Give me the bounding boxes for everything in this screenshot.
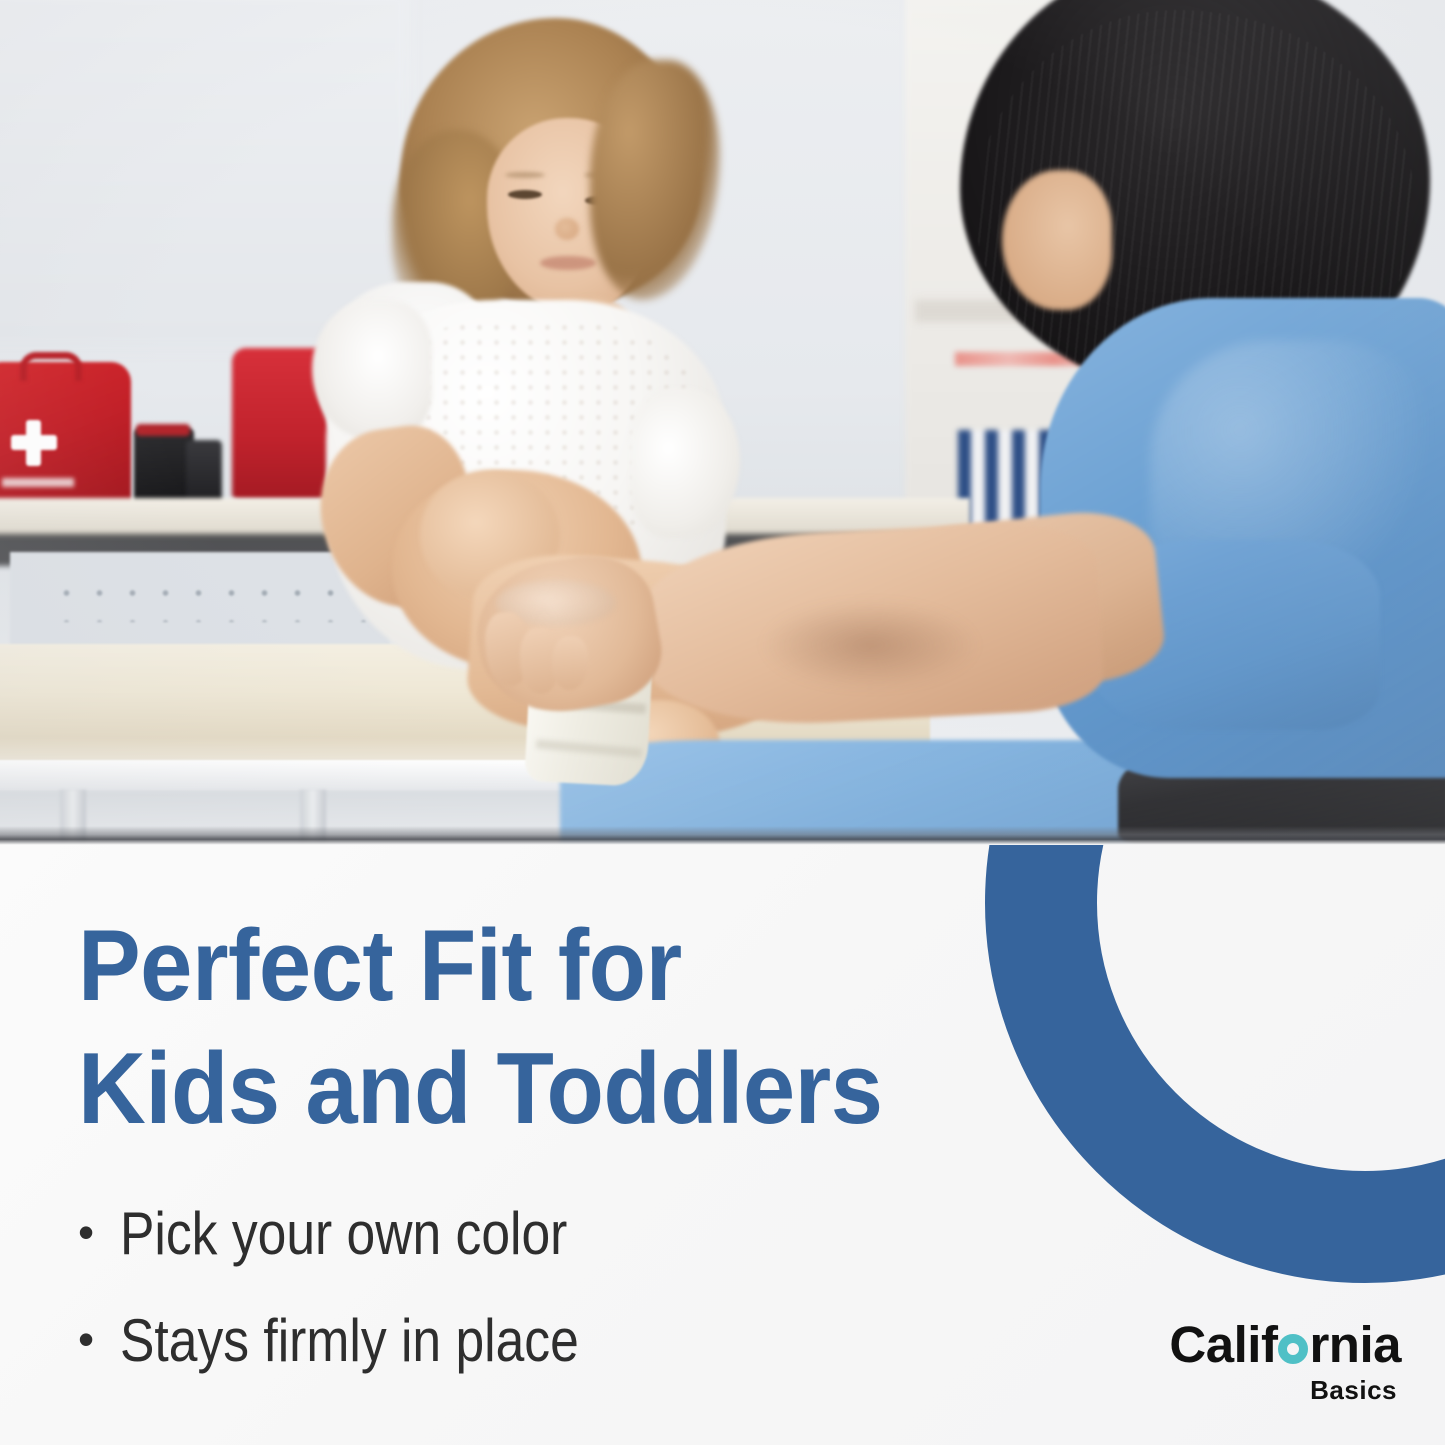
child-eye-left [508,190,542,199]
child-mouth [540,256,596,270]
hero-photo [0,0,1445,845]
marketing-panel: Perfect Fit for Kids and Toddlers • Pick… [0,845,1445,1445]
brand-name-part-2: rnia [1309,1319,1401,1370]
wall-panel-left [0,0,410,350]
black-case-lid [136,424,190,436]
brand-logo-o-icon [1278,1334,1308,1364]
brand-logo-wordmark: Califrnia [1169,1319,1401,1370]
first-aid-bag-text [2,478,74,487]
medical-cross-icon-bar [11,435,57,450]
headline-line-2: Kids and Toddlers [78,1028,1017,1151]
brand-name-part-1: Calif [1169,1319,1277,1370]
copy-block: Perfect Fit for Kids and Toddlers • Pick… [78,905,1088,1416]
nurse-face [1002,170,1112,310]
child-eyebrow-left [505,172,545,178]
feature-list: • Pick your own color • Stays firmly in … [78,1203,1088,1372]
list-item-label: Pick your own color [120,1203,567,1265]
bullet-dot-icon: • [78,1316,94,1362]
nurse-wrist-shadow [760,600,980,690]
list-item: • Stays firmly in place [78,1310,1088,1372]
list-item-label: Stays firmly in place [120,1310,579,1372]
bullet-dot-icon: • [78,1209,94,1255]
headline-line-1: Perfect Fit for [78,905,1017,1028]
perforated-panel-dots [50,578,380,622]
first-aid-bag-handle [20,352,82,381]
brand-logo: Califrnia Basics [1169,1319,1401,1403]
child-nose [555,218,579,240]
photo-bottom-edge [0,826,1445,845]
list-item: • Pick your own color [78,1203,1088,1265]
dress-ruffle-left [312,300,432,440]
brand-logo-subtitle: Basics [1169,1377,1397,1403]
product-marketing-image: Perfect Fit for Kids and Toddlers • Pick… [0,0,1445,1445]
page-title: Perfect Fit for Kids and Toddlers [78,905,1017,1151]
